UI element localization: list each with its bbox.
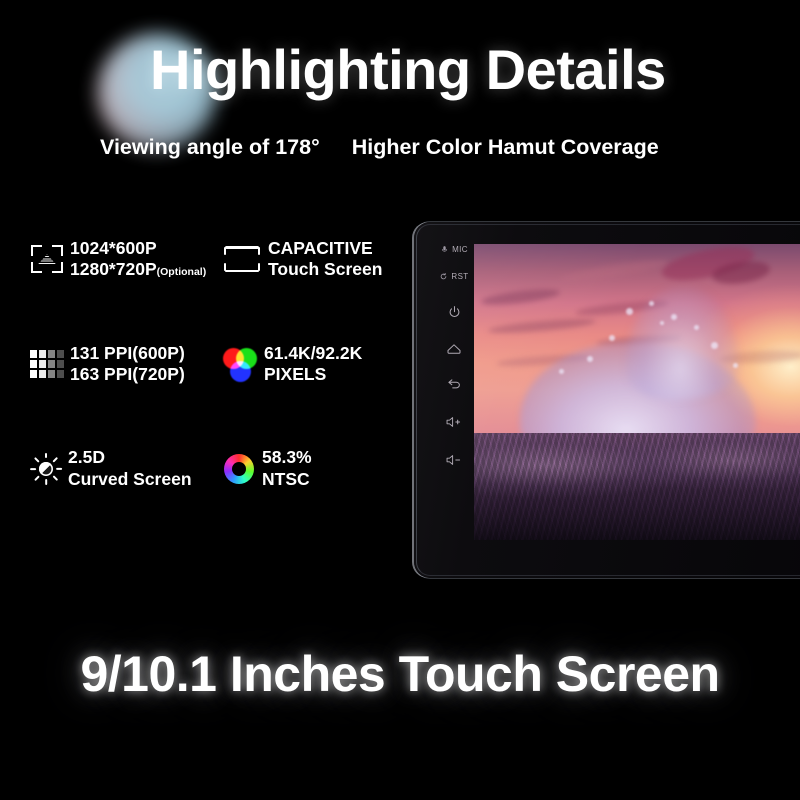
spec-line-1: 61.4K/92.2K [264, 343, 362, 363]
spec-line-1: CAPACITIVE [268, 238, 373, 258]
brightness-sun-icon [30, 453, 62, 485]
spec-line-1: 131 PPI(600P) [70, 343, 185, 363]
spec-label: 61.4K/92.2K PIXELS [264, 343, 362, 386]
power-key[interactable] [447, 303, 462, 321]
spec-item-curved: 2.5D Curved Screen [30, 447, 222, 490]
volume-down-icon [445, 453, 463, 467]
spec-grid: 1024*600P 1280*720P(Optional) CAPACITIVE… [30, 238, 420, 490]
power-icon [447, 305, 462, 320]
home-icon [446, 341, 462, 356]
spec-line-2: Curved Screen [68, 469, 192, 489]
back-icon [446, 377, 462, 392]
mic-key[interactable]: MIC [440, 240, 468, 258]
spec-item-ntsc: 58.3% NTSC [222, 447, 312, 490]
spec-line-2: Touch Screen [268, 259, 382, 279]
volume-up-icon [445, 415, 463, 429]
subtitle-color-gamut: Higher Color Hamut Coverage [352, 135, 659, 160]
reset-icon [439, 272, 448, 281]
spec-item-pixels: 61.4K/92.2K PIXELS [222, 343, 362, 386]
spec-label: 1024*600P 1280*720P(Optional) [70, 238, 206, 281]
color-wheel-icon [222, 452, 256, 486]
capacitive-screen-icon [222, 244, 262, 274]
spec-line-2-suffix: (Optional) [157, 266, 207, 278]
subtitle-row: Viewing angle of 178° Higher Color Hamut… [100, 135, 710, 160]
resolution-frame-icon [30, 242, 64, 276]
rgb-venn-icon [222, 346, 258, 382]
rocky-foreground [474, 433, 800, 540]
tablet-device: MIC RST [414, 222, 800, 578]
spec-line-2: 163 PPI(720P) [70, 364, 185, 384]
page-title: Highlighting Details [150, 42, 666, 98]
spec-line-2: 1280*720P [70, 259, 157, 279]
spec-line-2: NTSC [262, 469, 310, 489]
pixel-grid-icon [30, 350, 64, 378]
sunset-ocean-wave-photo [474, 244, 800, 540]
spec-label: CAPACITIVE Touch Screen [268, 238, 382, 281]
spec-line-1: 1024*600P [70, 238, 157, 258]
spec-item-ppi: 131 PPI(600P) 163 PPI(720P) [30, 343, 222, 386]
product-banner: Highlighting Details Viewing angle of 17… [0, 0, 800, 800]
spec-row: 1024*600P 1280*720P(Optional) CAPACITIVE… [30, 238, 420, 281]
spec-line-1: 2.5D [68, 447, 105, 467]
footer-headline: 9/10.1 Inches Touch Screen [0, 645, 800, 703]
rst-key[interactable]: RST [439, 267, 468, 285]
spec-label: 58.3% NTSC [262, 447, 312, 490]
spec-label: 131 PPI(600P) 163 PPI(720P) [70, 343, 185, 386]
volume-down-key[interactable] [445, 451, 463, 469]
rst-key-label: RST [451, 272, 468, 281]
spec-item-resolution: 1024*600P 1280*720P(Optional) [30, 238, 222, 281]
spec-row: 2.5D Curved Screen 58.3% NTSC [30, 447, 420, 490]
spec-line-2: PIXELS [264, 364, 326, 384]
back-key[interactable] [446, 375, 462, 393]
spec-line-1: 58.3% [262, 447, 312, 467]
spec-item-capacitive: CAPACITIVE Touch Screen [222, 238, 382, 281]
mic-key-label: MIC [452, 245, 468, 254]
spec-label: 2.5D Curved Screen [68, 447, 192, 490]
bezel-key-column: MIC RST [432, 236, 476, 556]
microphone-icon [440, 245, 449, 254]
volume-up-key[interactable] [445, 413, 463, 431]
spec-row: 131 PPI(600P) 163 PPI(720P) 61.4K/92.2K … [30, 343, 420, 386]
home-key[interactable] [446, 339, 462, 357]
subtitle-viewing-angle: Viewing angle of 178° [100, 135, 320, 160]
device-screen [474, 244, 800, 540]
